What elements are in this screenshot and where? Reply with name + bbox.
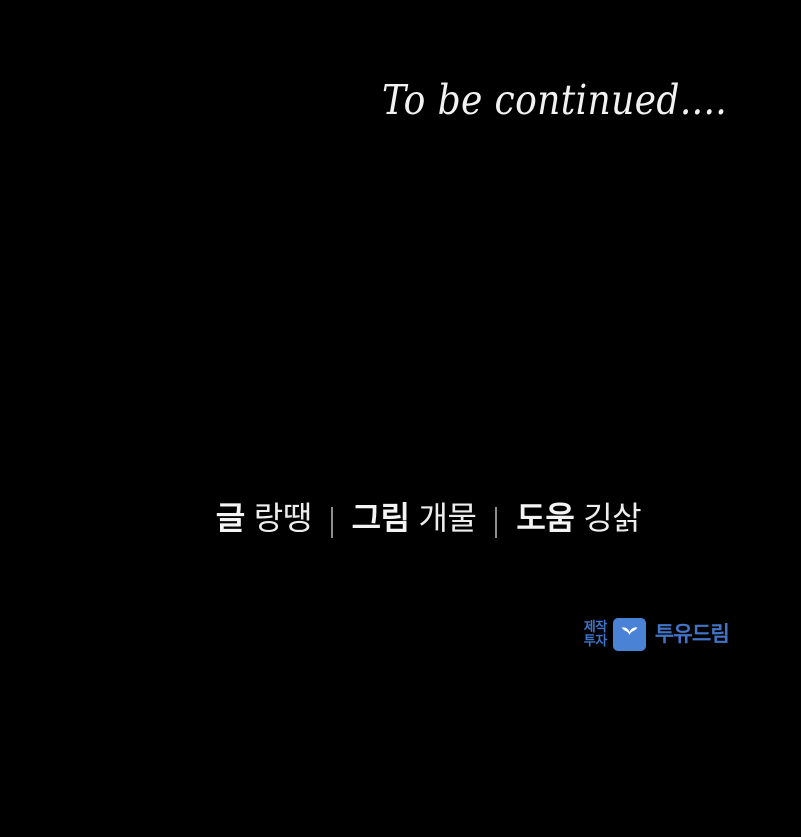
credit-role-label: 글 [216,496,245,540]
credits-line: 글 랑땡 그림 개물 도움 깅삵 [0,494,801,542]
credit-role-label: 도움 [516,496,574,540]
credit-entry-writer: 글 랑땡 [216,496,312,540]
studio-logo-row: 제작 투자 투유드림 [0,612,801,656]
credit-role-label: 그림 [352,496,410,540]
webtoon-end-card: To be continued.... 글 랑땡 그림 개물 도움 깅삵 제작 … [0,0,801,837]
credit-separator [495,507,497,538]
studio-kicker-line-investment: 투자 [584,634,607,648]
credit-person-name: 깅삵 [583,496,641,540]
credit-person-name: 개물 [419,496,477,540]
credit-separator [331,507,333,538]
studio-name: 투유드림 [655,624,729,645]
studio-kicker-line-production: 제작 [584,620,607,634]
to-be-continued-block: To be continued.... [0,74,801,126]
credit-entry-assistant: 도움 깅삵 [516,496,641,540]
to-be-continued-text: To be continued.... [382,74,727,126]
tuyodream-y-mark-icon [613,618,646,651]
credit-person-name: 랑땡 [254,496,312,540]
credit-entry-artist: 그림 개물 [352,496,477,540]
studio-kicker: 제작 투자 [584,620,607,647]
